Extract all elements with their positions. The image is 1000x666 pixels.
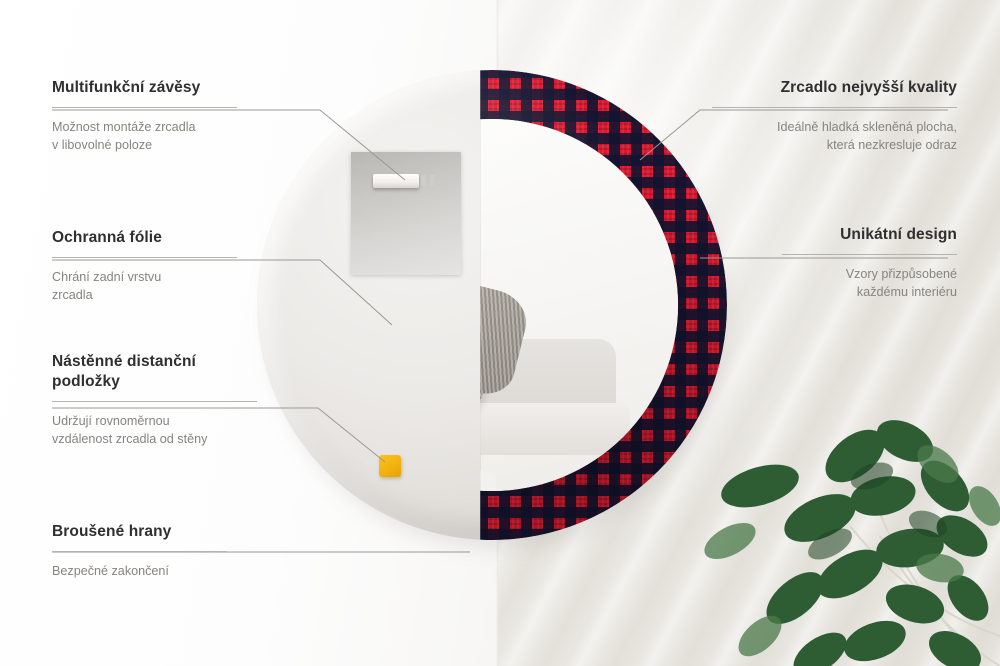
callout-edges-title: Broušené hrany xyxy=(52,522,227,542)
desc-line: v libovolné poloze xyxy=(52,138,152,152)
callout-rule xyxy=(712,107,957,108)
callout-spacers-desc: Udržují rovnoměrnou vzdálenost zrcadla o… xyxy=(52,412,257,449)
callout-rule xyxy=(52,401,257,402)
callout-mirror-quality: Zrcadlo nejvyšší kvality Ideálně hladká … xyxy=(712,78,957,154)
callout-quality-title: Zrcadlo nejvyšší kvality xyxy=(712,78,957,98)
callout-foil-desc: Chrání zadní vrstvu zrcadla xyxy=(52,268,237,305)
callout-quality-desc: Ideálně hladká skleněná plocha, která ne… xyxy=(712,118,957,155)
callout-hangers-title: Multifunkční závěsy xyxy=(52,78,237,98)
hanger-detail-panel xyxy=(351,152,461,275)
desc-line: zrcadla xyxy=(52,288,93,302)
decorative-plant xyxy=(700,336,1000,666)
callout-rule xyxy=(52,551,227,552)
callout-rule xyxy=(782,254,957,255)
wall-spacer-pad xyxy=(379,455,401,477)
desc-line: Udržují rovnoměrnou xyxy=(52,414,170,428)
callout-design-title: Unikátní design xyxy=(782,225,957,245)
desc-line: každému interiéru xyxy=(857,285,957,299)
infographic-canvas: Multifunkční závěsy Možnost montáže zrca… xyxy=(0,0,1000,666)
title-line: Nástěnné distanční xyxy=(52,353,196,370)
desc-line: Ideálně hladká skleněná plocha, xyxy=(777,120,957,134)
callout-design-desc: Vzory přizpůsobené každému interiéru xyxy=(782,265,957,302)
desc-line: Vzory přizpůsobené xyxy=(846,267,957,281)
desc-line: vzdálenost zrcadla od stěny xyxy=(52,432,207,446)
callout-foil-title: Ochranná fólie xyxy=(52,228,237,248)
callout-wall-spacers: Nástěnné distanční podložky Udržují rovn… xyxy=(52,352,257,448)
desc-line: Chrání zadní vrstvu xyxy=(52,270,161,284)
callout-polished-edges: Broušené hrany Bezpečné zakončení xyxy=(52,522,227,580)
callout-spacers-title: Nástěnné distanční podložky xyxy=(52,352,257,392)
callout-hangers-desc: Možnost montáže zrcadla v libovolné polo… xyxy=(52,118,237,155)
callout-hangers: Multifunkční závěsy Možnost montáže zrca… xyxy=(52,78,237,154)
callout-edges-desc: Bezpečné zakončení xyxy=(52,562,227,580)
hanger-slot xyxy=(430,175,435,186)
callout-protective-foil: Ochranná fólie Chrání zadní vrstvu zrcad… xyxy=(52,228,237,304)
callout-rule xyxy=(52,107,237,108)
desc-line: Možnost montáže zrcadla xyxy=(52,120,196,134)
title-line: podložky xyxy=(52,373,120,390)
round-mirror-product xyxy=(257,70,727,540)
callout-rule xyxy=(52,257,237,258)
hanger-slot xyxy=(421,175,426,186)
callout-unique-design: Unikátní design Vzory přizpůsobené každé… xyxy=(782,225,957,301)
hanger-bracket xyxy=(373,174,419,188)
desc-line: která nezkresluje odraz xyxy=(827,138,957,152)
